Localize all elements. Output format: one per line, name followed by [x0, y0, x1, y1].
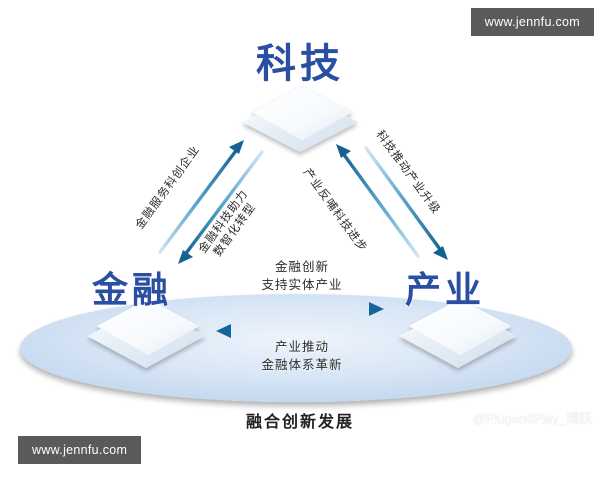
edge-label-industry-to-finance-line1: 产业推动 — [228, 338, 376, 356]
weibo-logo-icon — [450, 408, 469, 427]
weibo-credit: @PlugandPlay_璞跃 — [450, 408, 592, 427]
edge-label-industry-to-finance-line2: 金融体系革新 — [228, 356, 376, 374]
edge-label-finance-to-industry: 金融创新 支持实体产业 — [232, 258, 372, 294]
edge-label-finance-to-industry-line1: 金融创新 — [232, 258, 372, 276]
node-label-finance: 金融 — [92, 272, 172, 308]
node-label-industry: 产业 — [405, 272, 485, 308]
weibo-handle-text: @PlugandPlay_璞跃 — [473, 408, 592, 427]
node-label-tech: 科技 — [0, 44, 600, 84]
edge-label-finance-to-industry-line2: 支持实体产业 — [232, 276, 372, 294]
watermark-top-right: www.jennfu.com — [471, 8, 594, 36]
edge-label-industry-to-finance: 产业推动 金融体系革新 — [228, 338, 376, 374]
diagram-canvas: 科技 金融 产业 金融服务科创企业 金融科技助力 数智化转型 科技推动产业升级 … — [0, 0, 600, 480]
watermark-bottom-left: www.jennfu.com — [18, 436, 141, 464]
node-diamond-tech — [242, 86, 358, 152]
